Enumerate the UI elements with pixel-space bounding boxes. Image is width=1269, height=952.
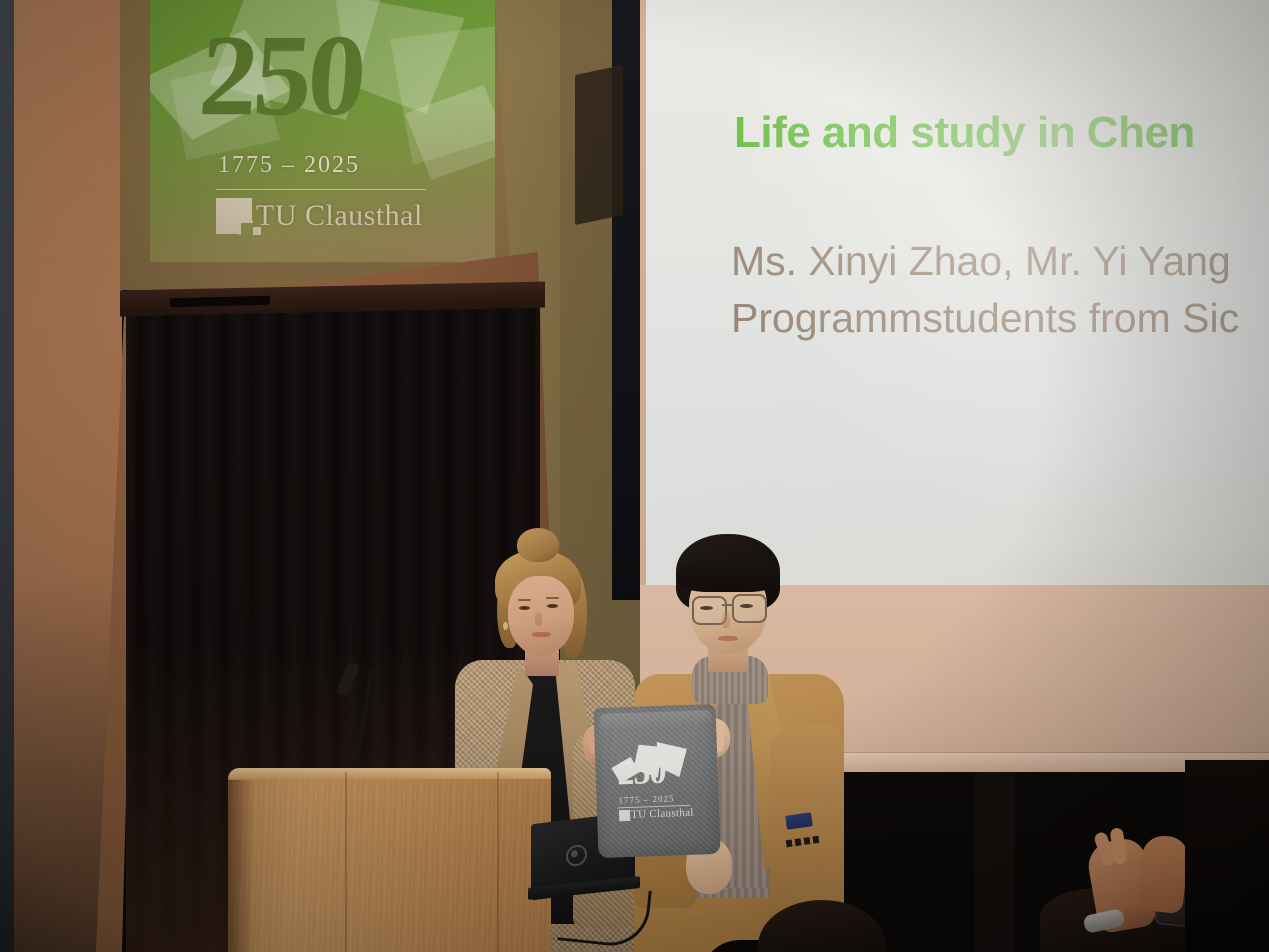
- lectern-seam: [497, 772, 499, 952]
- dark-foreground-band: [975, 772, 1015, 952]
- presenter-brow-left: [518, 599, 531, 601]
- tu-clausthal-square-mark-icon: [619, 810, 630, 821]
- slide-title: Life and study in Chen: [734, 108, 1195, 158]
- presenter-brow-right: [546, 597, 559, 599]
- presenter-eye-right: [547, 604, 558, 608]
- presenter-hair-bun: [517, 528, 559, 562]
- logo-years-range: 1775 – 2025: [218, 152, 360, 179]
- slide-subtitle-line-1: Ms. Xinyi Zhao, Mr. Yi Yang: [731, 238, 1231, 285]
- lectern: [228, 768, 551, 952]
- recipient-nose: [722, 612, 730, 628]
- logo-divider: [216, 189, 426, 190]
- foreground-dark-edge: [1185, 760, 1269, 952]
- tote-anniversary-number: 250: [617, 756, 666, 792]
- projected-anniversary-logo: 250 1775 – 2025 TU Clausthal: [150, 0, 495, 262]
- presenter-nose: [535, 612, 542, 626]
- audience-hand-second: [1136, 834, 1190, 914]
- tote-institution-name: TU Clausthal: [631, 807, 694, 821]
- wall-shadow-patch: [575, 65, 623, 225]
- glasses-bridge-icon: [722, 604, 734, 606]
- glasses-lens-right-icon: [732, 594, 767, 623]
- tu-clausthal-square-mark-icon: [216, 198, 252, 234]
- lectern-seam: [345, 772, 347, 952]
- recipient-hair-fringe: [678, 558, 778, 592]
- lectern-top-edge: [228, 768, 551, 779]
- presenter-earring: [503, 622, 508, 630]
- recipient-mouth: [718, 636, 738, 641]
- tote-printed-logo: 250 1775 – 2025 TU Clausthal: [605, 740, 708, 825]
- logo-institution-name: TU Clausthal: [256, 199, 423, 233]
- logo-anniversary-number: 250: [196, 18, 366, 134]
- presenter-mouth: [532, 632, 551, 637]
- lectern-shadow: [228, 780, 254, 952]
- event-photograph: 250 1775 – 2025 TU Clausthal Life and st…: [0, 0, 1269, 952]
- tote-years-range: 1775 – 2025: [618, 793, 674, 805]
- projection-screen: Life and study in Chen Ms. Xinyi Zhao, M…: [646, 0, 1269, 592]
- presenter-eye-left: [519, 606, 530, 610]
- slide-subtitle-line-2: Programmstudents from Sic: [731, 295, 1239, 342]
- logo-brand-row: TU Clausthal: [216, 198, 423, 234]
